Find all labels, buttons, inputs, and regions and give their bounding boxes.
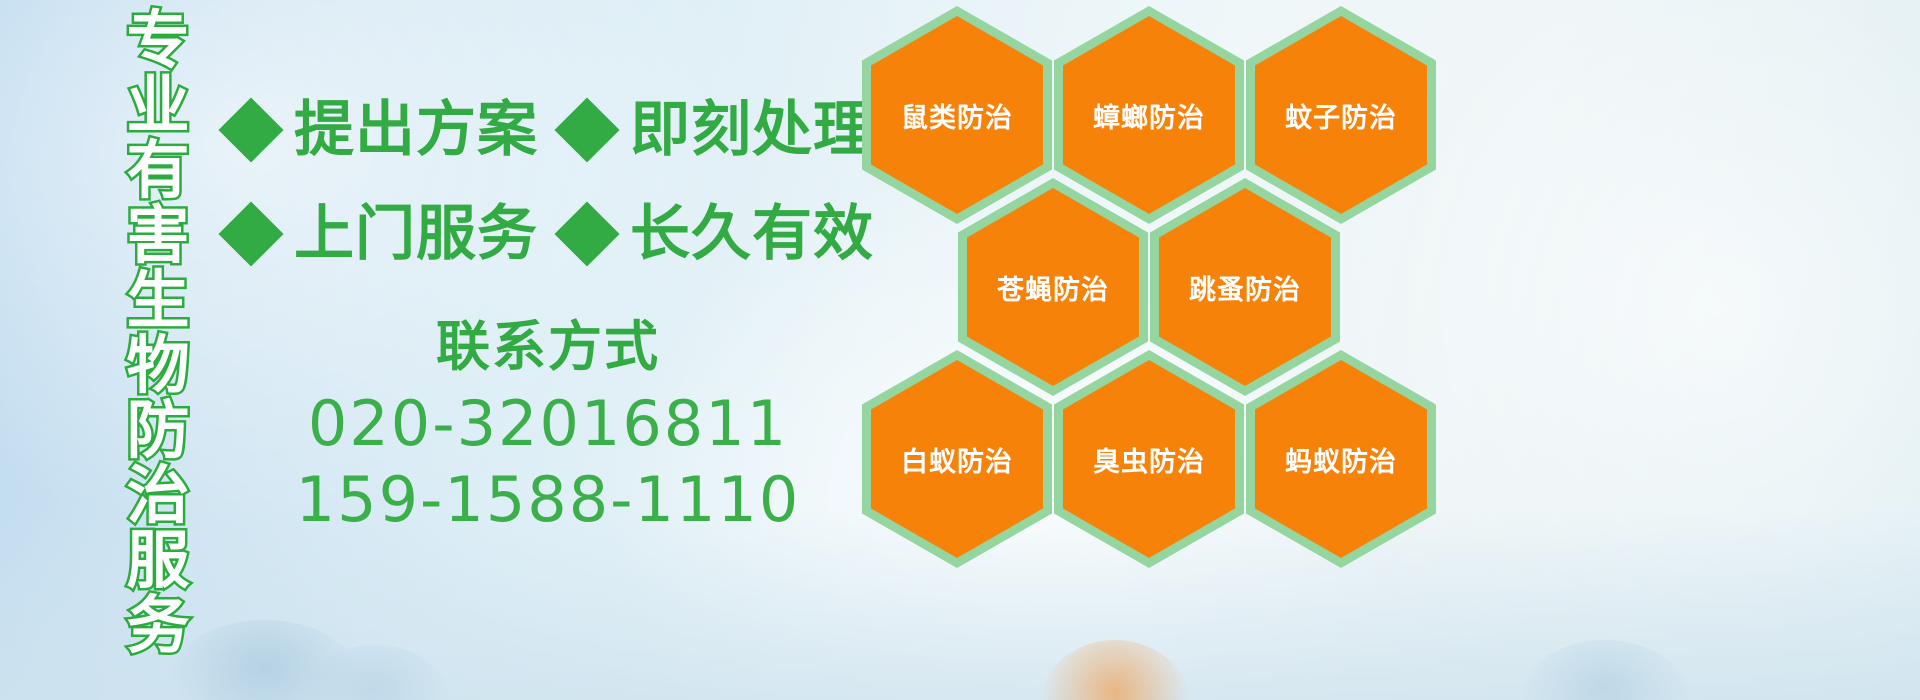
hex-inner-fill: 跳蚤防治 <box>1159 188 1331 386</box>
hex-inner-fill: 蚂蚁防治 <box>1255 360 1427 558</box>
contact-block: 联系方式 020-32016811 159-1588-1110 <box>228 316 868 537</box>
feature-item-long-lasting-effect: 长久有效 <box>564 204 874 264</box>
service-honeycomb: 鼠类防治 蟑螂防治 蚊子防治 苍蝇防治 跳蚤防治 白蚁防治 <box>862 0 1462 700</box>
diamond-bullet-icon <box>554 97 619 162</box>
hex-service-ant-control[interactable]: 蚂蚁防治 <box>1246 350 1436 568</box>
contact-phone-mobile[interactable]: 159-1588-1110 <box>228 462 868 538</box>
hex-label: 苍蝇防治 <box>997 268 1109 307</box>
hex-service-flea-control[interactable]: 跳蚤防治 <box>1150 178 1340 396</box>
vertical-slogan-char: 服 <box>127 528 190 593</box>
pest-control-banner: 专 业 有 害 生 物 防 治 服 务 提出方案 即刻处理 上门服务 <box>0 0 1920 700</box>
hex-label: 蚊子防治 <box>1285 96 1397 135</box>
feature-row: 上门服务 长久有效 <box>228 182 868 286</box>
hex-label: 蟑螂防治 <box>1093 96 1205 135</box>
hex-label: 白蚁防治 <box>901 440 1013 479</box>
feature-label: 上门服务 <box>294 204 538 264</box>
hex-label: 蚂蚁防治 <box>1285 440 1397 479</box>
hex-service-bedbug-control[interactable]: 臭虫防治 <box>1054 350 1244 568</box>
vertical-slogan-char: 物 <box>127 333 190 398</box>
diamond-bullet-icon <box>218 201 283 266</box>
diamond-bullet-icon <box>218 97 283 162</box>
hex-inner-fill: 白蚁防治 <box>871 360 1043 558</box>
hex-service-fly-control[interactable]: 苍蝇防治 <box>958 178 1148 396</box>
diamond-bullet-icon <box>554 201 619 266</box>
feature-row: 提出方案 即刻处理 <box>228 78 868 182</box>
feature-item-propose-plan: 提出方案 <box>228 100 538 160</box>
feature-item-door-to-door-service: 上门服务 <box>228 204 538 264</box>
vertical-slogan-char: 防 <box>127 398 190 463</box>
hex-service-mosquito-control[interactable]: 蚊子防治 <box>1246 6 1436 224</box>
vertical-slogan-char: 害 <box>127 203 190 268</box>
vertical-slogan-char: 生 <box>127 268 190 333</box>
hex-service-termite-control[interactable]: 白蚁防治 <box>862 350 1052 568</box>
feature-label: 提出方案 <box>294 100 538 160</box>
hex-service-cockroach-control[interactable]: 蟑螂防治 <box>1054 6 1244 224</box>
hex-label: 臭虫防治 <box>1093 440 1205 479</box>
contact-title: 联系方式 <box>228 316 868 378</box>
vertical-slogan: 专 业 有 害 生 物 防 治 服 务 <box>104 8 212 668</box>
vertical-slogan-char: 有 <box>127 138 190 203</box>
hex-inner-fill: 蚊子防治 <box>1255 16 1427 214</box>
hex-inner-fill: 蟑螂防治 <box>1063 16 1235 214</box>
background-blob-four <box>1520 640 1690 700</box>
contact-phone-landline[interactable]: 020-32016811 <box>228 386 868 462</box>
hex-inner-fill: 鼠类防治 <box>871 16 1043 214</box>
feature-label: 长久有效 <box>630 204 874 264</box>
hex-inner-fill: 苍蝇防治 <box>967 188 1139 386</box>
vertical-slogan-char: 治 <box>127 463 190 528</box>
hex-inner-fill: 臭虫防治 <box>1063 360 1235 558</box>
feature-list: 提出方案 即刻处理 上门服务 长久有效 <box>228 78 868 286</box>
vertical-slogan-char: 业 <box>127 73 190 138</box>
hex-label: 跳蚤防治 <box>1189 268 1301 307</box>
vertical-slogan-char: 务 <box>127 593 190 658</box>
vertical-slogan-char: 专 <box>127 8 190 73</box>
hex-label: 鼠类防治 <box>901 96 1013 135</box>
feature-item-immediate-handling: 即刻处理 <box>564 100 874 160</box>
feature-label: 即刻处理 <box>630 100 874 160</box>
hex-service-rodent-control[interactable]: 鼠类防治 <box>862 6 1052 224</box>
background-blob-two <box>300 645 450 700</box>
